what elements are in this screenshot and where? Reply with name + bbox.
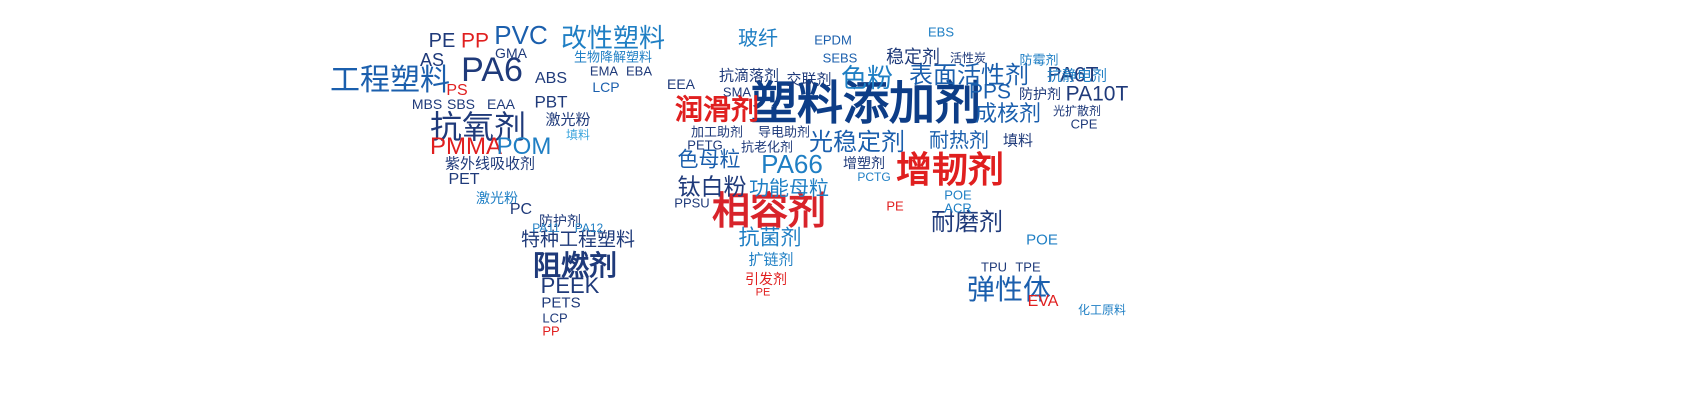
word-cloud-term[interactable]: 活性炭 xyxy=(950,52,986,64)
word-cloud-term[interactable]: EAA xyxy=(487,97,515,111)
word-cloud-term[interactable]: PE xyxy=(429,31,456,51)
word-cloud-term[interactable]: 工程塑料 xyxy=(330,66,450,96)
word-cloud-term[interactable]: 引发剂 xyxy=(745,272,787,286)
word-cloud-term[interactable]: PET xyxy=(448,172,479,188)
word-cloud-term[interactable]: PE xyxy=(756,288,771,299)
word-cloud-term[interactable]: EMA xyxy=(590,65,618,78)
word-cloud-term[interactable]: PA11 xyxy=(532,222,560,234)
word-cloud-term[interactable]: 防护剂 xyxy=(1019,87,1061,101)
word-cloud-term[interactable]: EPDM xyxy=(814,34,852,47)
word-cloud-term[interactable]: PP xyxy=(461,31,489,52)
word-cloud-term[interactable]: PBT xyxy=(534,94,567,111)
word-cloud-term[interactable]: EBA xyxy=(626,65,652,78)
word-cloud-term[interactable]: 交联剂 xyxy=(786,73,831,88)
word-cloud-term[interactable]: 紫外线吸收剂 xyxy=(445,157,535,172)
word-cloud-term[interactable]: SBS xyxy=(447,97,475,111)
word-cloud-term[interactable]: PA12 xyxy=(575,222,603,234)
word-cloud-term[interactable]: 耐热剂 xyxy=(929,131,989,151)
word-cloud-term[interactable]: PC xyxy=(510,202,532,218)
word-cloud-term[interactable]: 稳定剂 xyxy=(886,48,940,66)
word-cloud-term[interactable]: 光扩散剂 xyxy=(1053,105,1101,117)
word-cloud-term[interactable]: 激光粉 xyxy=(545,113,590,128)
word-cloud-term[interactable]: 增韧剂 xyxy=(896,152,1004,188)
word-cloud-term[interactable]: PE xyxy=(886,200,903,213)
word-cloud-term[interactable]: LCP xyxy=(592,80,619,94)
word-cloud-term[interactable]: 填料 xyxy=(566,129,590,141)
word-cloud-term[interactable]: SMA xyxy=(723,86,751,99)
word-cloud-term[interactable]: EBS xyxy=(928,26,954,39)
word-cloud-term[interactable]: 玻纤 xyxy=(738,29,778,49)
word-cloud-term[interactable]: 色母粒 xyxy=(678,150,741,171)
word-cloud-term[interactable]: 化工原料 xyxy=(1078,304,1126,316)
word-cloud-term[interactable]: 防霉剂 xyxy=(1019,54,1058,67)
word-cloud-term[interactable]: 色粉 xyxy=(841,65,893,91)
word-cloud-term[interactable]: ABS xyxy=(535,71,567,87)
word-cloud-term[interactable]: 抗菌剂 xyxy=(739,228,802,249)
word-cloud-term[interactable]: AS xyxy=(420,51,444,69)
word-cloud-canvas: 塑料添加剂相容剂增韧剂工程塑料抗氧剂PA6润滑剂阻燃剂弹性体改性塑料表面活性剂光… xyxy=(0,0,1707,400)
word-cloud-term[interactable]: 填料 xyxy=(1003,134,1033,149)
word-cloud-term[interactable]: PCTG xyxy=(857,171,890,183)
word-cloud-term[interactable]: GMA xyxy=(495,46,527,60)
word-cloud-term[interactable]: TPU xyxy=(981,261,1007,274)
word-cloud-term[interactable]: ACR xyxy=(944,202,971,215)
word-cloud-term[interactable]: 增塑剂 xyxy=(843,156,885,170)
word-cloud-term[interactable]: PPSU xyxy=(674,197,709,210)
word-cloud-term[interactable]: PETS xyxy=(541,296,580,311)
word-cloud-term[interactable]: PPS xyxy=(969,82,1011,103)
word-cloud-term[interactable]: 抗老化剂 xyxy=(741,141,793,154)
word-cloud-term[interactable]: PA66 xyxy=(761,151,823,177)
word-cloud-term[interactable]: PETG xyxy=(687,139,722,152)
word-cloud-term[interactable]: MBS xyxy=(412,97,442,111)
word-cloud-term[interactable]: 导电助剂 xyxy=(758,126,810,139)
word-cloud-term[interactable]: TPE xyxy=(1015,261,1040,274)
word-cloud-term[interactable]: 生物降解塑料 xyxy=(574,51,652,64)
word-cloud-term[interactable]: 扩链剂 xyxy=(748,253,793,268)
word-cloud-term[interactable]: 光稳定剂 xyxy=(809,131,905,155)
word-cloud-term[interactable]: 抗静电剂 xyxy=(1047,69,1107,84)
word-cloud-term[interactable]: PA10T xyxy=(1066,84,1129,105)
word-cloud-term[interactable]: 成核剂 xyxy=(975,103,1041,125)
word-cloud-term[interactable]: EEA xyxy=(667,77,695,91)
word-cloud-term[interactable]: EVA xyxy=(1028,294,1059,310)
word-cloud-term[interactable]: 抗滴落剂 xyxy=(719,69,779,84)
word-cloud-term[interactable]: POE xyxy=(1026,233,1058,248)
word-cloud-term[interactable]: 功能母粒 xyxy=(749,179,829,199)
word-cloud-term[interactable]: PP xyxy=(542,325,559,338)
word-cloud-term[interactable]: 改性塑料 xyxy=(561,25,665,51)
word-cloud-term[interactable]: SEBS xyxy=(823,52,858,65)
word-cloud-term[interactable]: 润滑剂 xyxy=(675,96,759,124)
word-cloud-term[interactable]: CPE xyxy=(1071,118,1098,131)
